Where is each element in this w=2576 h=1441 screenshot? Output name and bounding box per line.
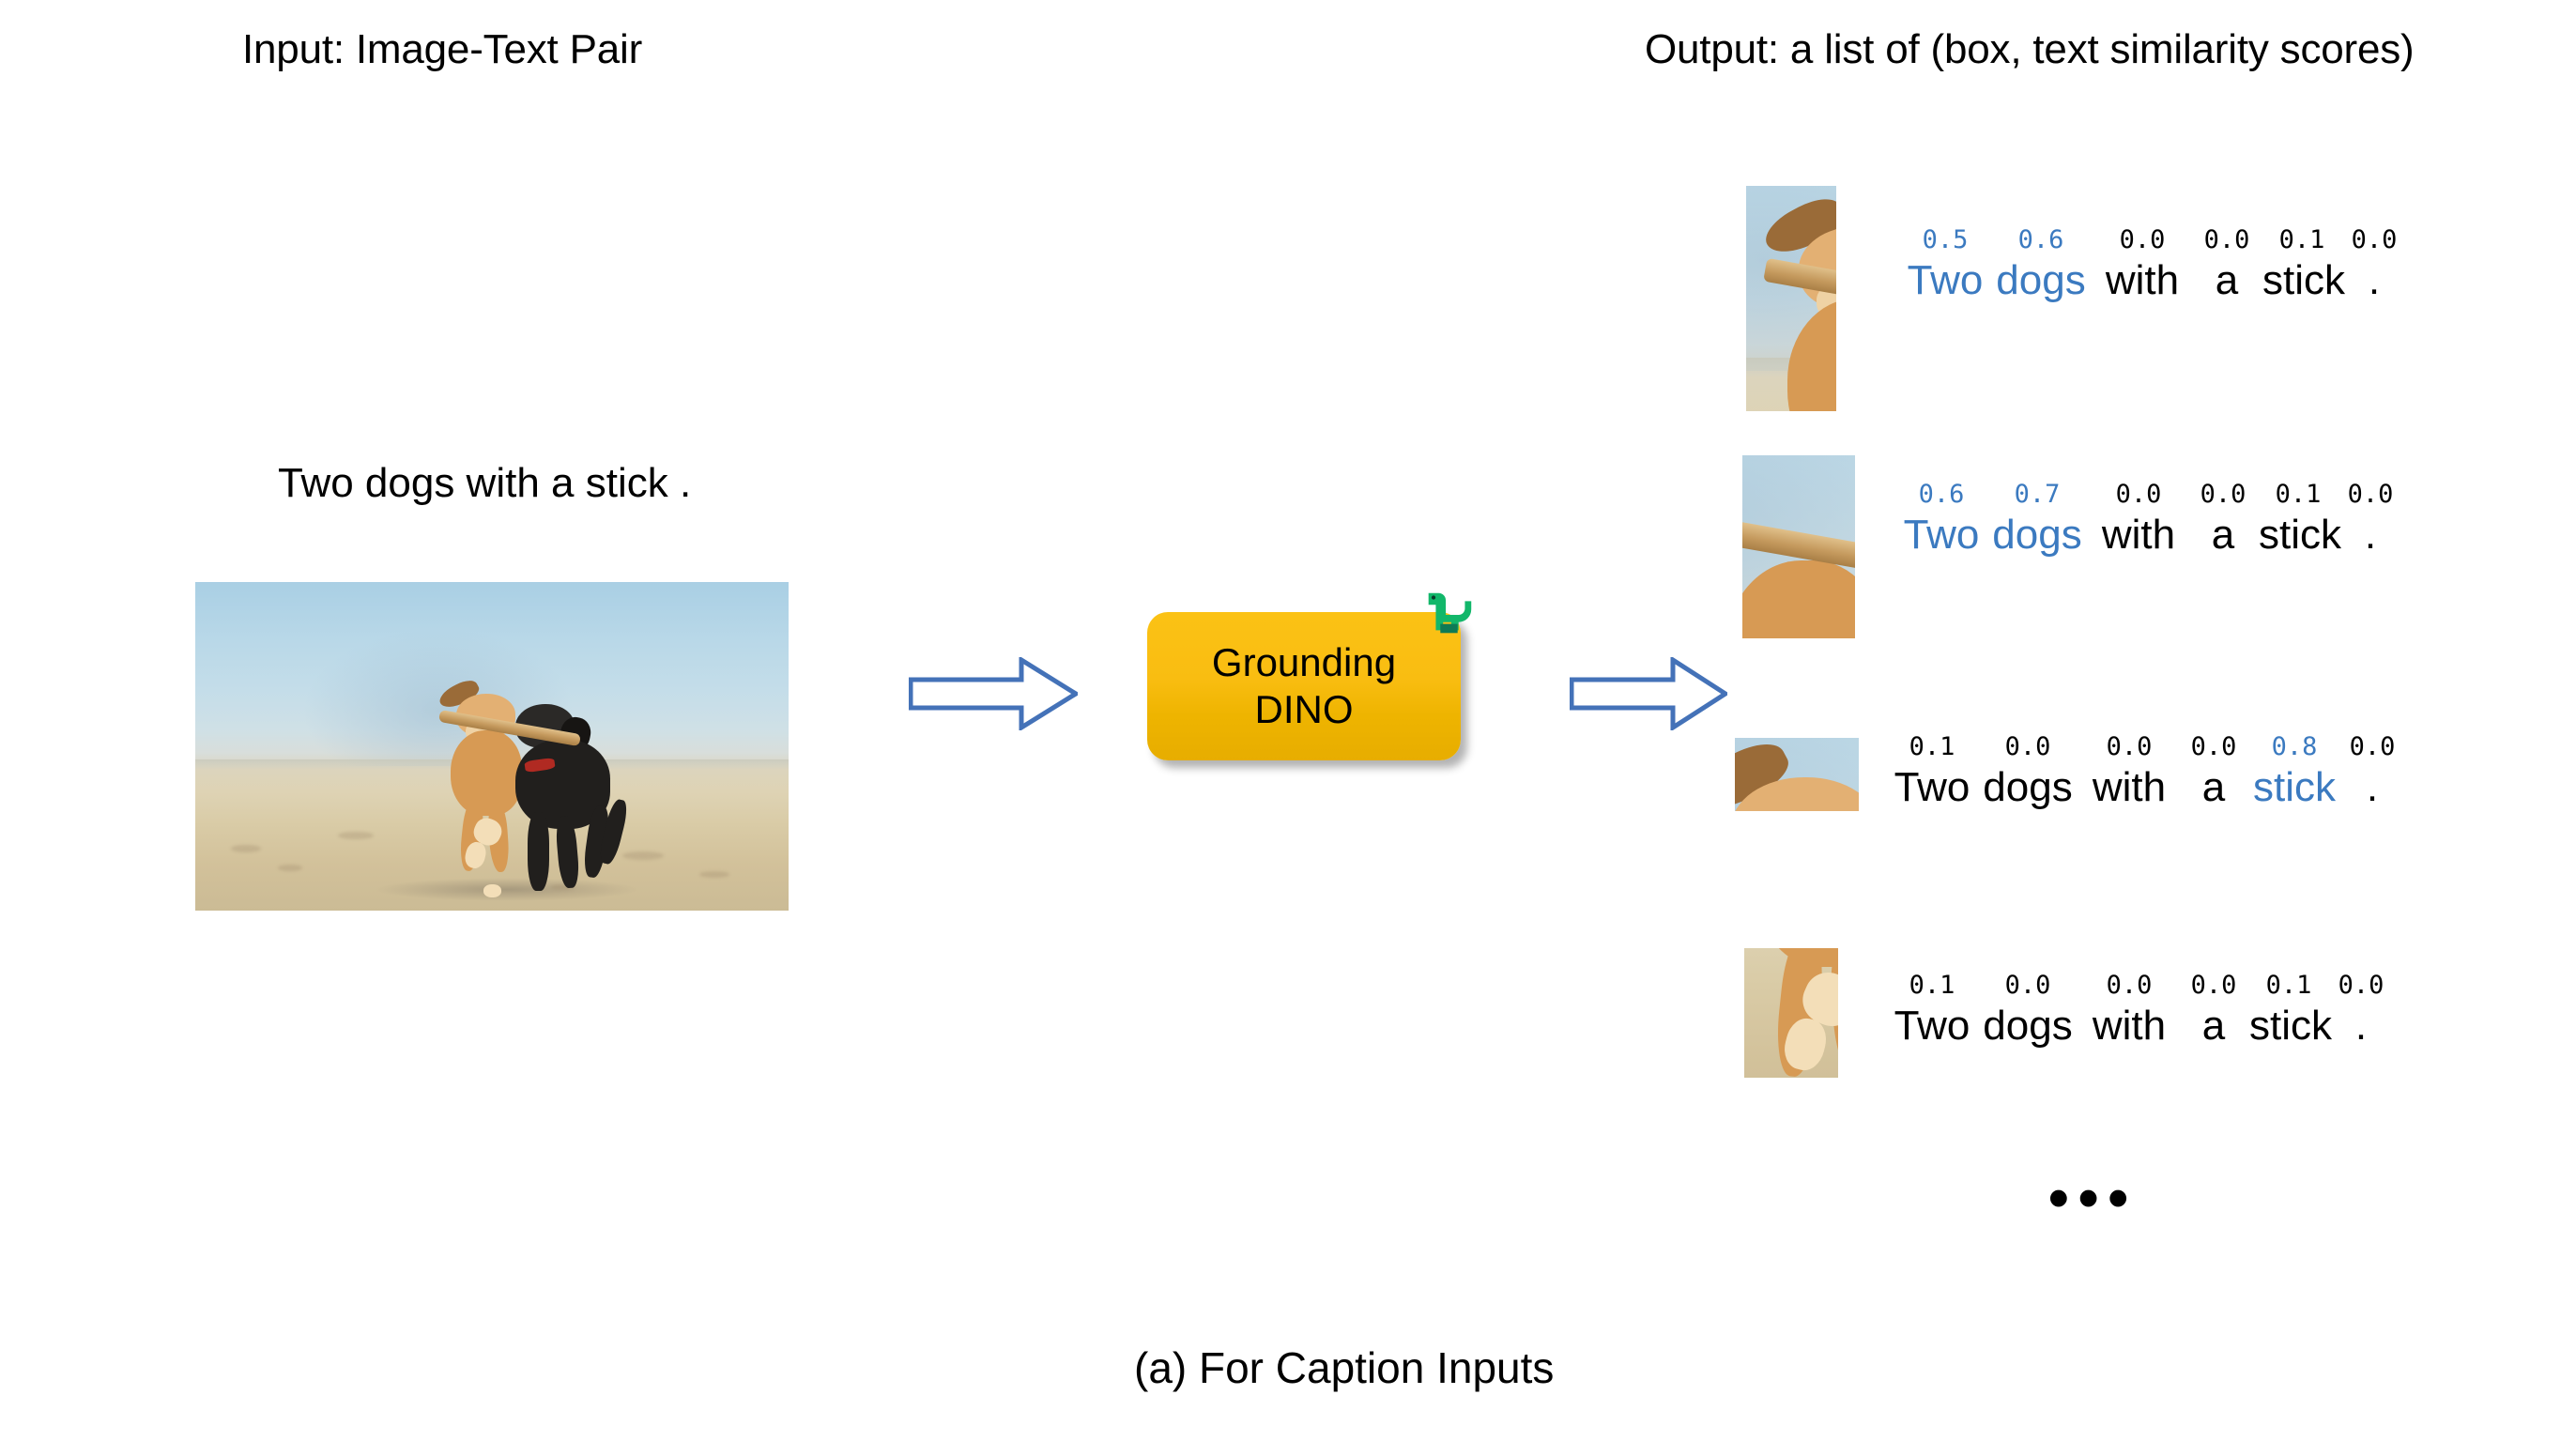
token-cell: with — [2093, 257, 2191, 304]
score-cell: 0.1 — [2259, 480, 2338, 509]
figure-caption: (a) For Caption Inputs — [1134, 1342, 1554, 1393]
score-cell: 0.0 — [2080, 971, 2178, 1000]
figure-canvas: Input: Image-Text Pair Output: a list of… — [0, 0, 2576, 1441]
score-cell: 0.0 — [2187, 480, 2259, 509]
token-cell: . — [2339, 764, 2405, 811]
token-cell: with — [2080, 764, 2178, 811]
token-cell: with — [2080, 1003, 2178, 1050]
score-cell: 0.0 — [2178, 732, 2249, 761]
token-cell: dogs — [1975, 1003, 2080, 1050]
score-cell: 0.8 — [2249, 732, 2339, 761]
token-cell: Two — [1889, 1003, 1975, 1050]
token-cell: a — [2178, 764, 2249, 811]
token-cell: with — [2090, 512, 2187, 559]
score-cell: 0.0 — [1975, 971, 2080, 1000]
score-cell: 0.0 — [2093, 225, 2191, 254]
token-row: Two dogs with a stick . — [1902, 257, 2407, 304]
model-name-line-2: DINO — [1255, 686, 1354, 733]
score-cell: 0.0 — [2090, 480, 2187, 509]
token-cell: dogs — [1988, 257, 2093, 304]
input-header: Input: Image-Text Pair — [242, 26, 642, 73]
box-thumbnail — [1746, 186, 1836, 411]
score-cell: 0.0 — [2339, 732, 2405, 761]
score-cell: 0.0 — [1975, 732, 2080, 761]
box-thumbnail — [1744, 948, 1838, 1078]
token-cell: . — [2328, 1003, 2394, 1050]
box-thumbnail — [1735, 738, 1859, 811]
token-cell: dogs — [1985, 512, 2090, 559]
token-row: Two dogs with a stick . — [1889, 1003, 2394, 1050]
score-cell: 0.0 — [2080, 732, 2178, 761]
token-cell: a — [2187, 512, 2259, 559]
score-cell: 0.7 — [1985, 480, 2090, 509]
score-row: 0.5 0.6 0.0 0.0 0.1 0.0 — [1902, 225, 2407, 254]
score-row: 0.1 0.0 0.0 0.0 0.8 0.0 — [1889, 732, 2405, 761]
black-dog — [195, 582, 789, 911]
more-results-ellipsis: ••• — [2048, 1170, 2138, 1228]
token-cell: a — [2178, 1003, 2249, 1050]
score-cell: 0.0 — [2328, 971, 2394, 1000]
score-cell: 0.1 — [2262, 225, 2341, 254]
token-cell: stick — [2262, 257, 2341, 304]
dinosaur-icon — [1419, 584, 1478, 642]
output-header: Output: a list of (box, text similarity … — [1645, 26, 2415, 73]
input-caption-text: Two dogs with a stick . — [278, 460, 691, 507]
token-row: Two dogs with a stick . — [1889, 764, 2405, 811]
arrow-image-to-model-icon — [909, 657, 1078, 730]
score-cell: 0.0 — [2191, 225, 2262, 254]
token-cell: stick — [2249, 1003, 2328, 1050]
score-row: 0.1 0.0 0.0 0.0 0.1 0.0 — [1889, 971, 2394, 1000]
score-row: 0.6 0.7 0.0 0.0 0.1 0.0 — [1898, 480, 2403, 509]
token-cell: stick — [2259, 512, 2338, 559]
score-cell: 0.1 — [1889, 732, 1975, 761]
score-cell: 0.0 — [2338, 480, 2403, 509]
output-row: 0.5 0.6 0.0 0.0 0.1 0.0 Two dogs with a … — [1746, 186, 2407, 411]
box-thumbnail — [1742, 455, 1855, 638]
arrow-model-to-output-icon — [1570, 657, 1727, 730]
token-cell: . — [2338, 512, 2403, 559]
token-cell: Two — [1889, 764, 1975, 811]
token-cell: stick — [2249, 764, 2339, 811]
output-row: 0.6 0.7 0.0 0.0 0.1 0.0 Two dogs with a … — [1742, 455, 2403, 638]
score-cell: 0.1 — [2249, 971, 2328, 1000]
output-row: 0.1 0.0 0.0 0.0 0.1 0.0 Two dogs with a … — [1744, 948, 2394, 1078]
token-cell: . — [2341, 257, 2407, 304]
score-cell: 0.0 — [2178, 971, 2249, 1000]
score-cell: 0.0 — [2341, 225, 2407, 254]
input-image — [195, 582, 789, 911]
output-row: 0.1 0.0 0.0 0.0 0.8 0.0 Two dogs with a … — [1735, 738, 2405, 811]
token-cell: Two — [1902, 257, 1988, 304]
score-cell: 0.5 — [1902, 225, 1988, 254]
score-cell: 0.6 — [1898, 480, 1985, 509]
score-cell: 0.6 — [1988, 225, 2093, 254]
token-row: Two dogs with a stick . — [1898, 512, 2403, 559]
model-name-line-1: Grounding — [1212, 639, 1396, 686]
token-cell: a — [2191, 257, 2262, 304]
token-cell: Two — [1898, 512, 1985, 559]
beach-scene — [195, 582, 789, 911]
grounding-dino-box[interactable]: Grounding DINO — [1147, 612, 1461, 760]
token-cell: dogs — [1975, 764, 2080, 811]
score-cell: 0.1 — [1889, 971, 1975, 1000]
